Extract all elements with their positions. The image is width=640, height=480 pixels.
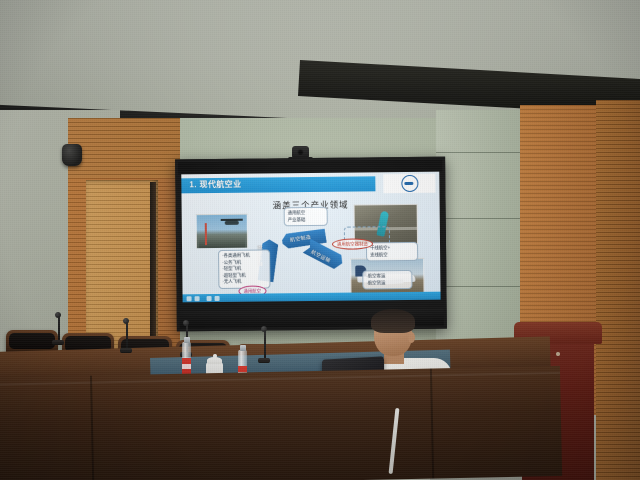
callout-trunk-regional: 干线航空+ 支线航空: [366, 242, 418, 262]
slide-logo: [383, 174, 435, 194]
door-gap: [150, 182, 156, 352]
callout-aircraft-types: ·各类通用飞机 ·公务飞机 ·轻型飞机 ·超轻型飞机 ·无人飞机: [218, 249, 270, 289]
slide-canvas: 1. 现代航空业 涵盖三个产业领域 航空制造 航空运营 航空运: [181, 172, 440, 303]
mic-stem-1: [58, 316, 60, 340]
callout-pax-cargo: ·航空客运 ·航空货运: [362, 270, 412, 290]
presentation-display[interactable]: 1. 现代航空业 涵盖三个产业领域 航空制造 航空运营 航空运: [175, 157, 447, 332]
conference-table-front: [0, 366, 562, 480]
presenter-ear: [408, 332, 415, 343]
mic-head-4: [261, 326, 267, 332]
wood-panel-left-upper: [68, 118, 180, 178]
wall-speaker-icon: [62, 144, 82, 166]
conference-room-photo: 1. 现代航空业 涵盖三个产业领域 航空制造 航空运营 航空运: [0, 0, 640, 480]
presenter-hair: [371, 309, 415, 333]
side-door[interactable]: [86, 180, 158, 352]
photo-helicopter-city: [196, 214, 248, 250]
mic-head-3: [183, 320, 189, 326]
lectern-knob: [556, 352, 560, 356]
mic-head-1: [55, 312, 61, 318]
callout-core-industry: 通用航空 产业基础: [284, 207, 328, 227]
mic-stem-2: [126, 322, 128, 348]
slide-title-text: 现代航空业: [199, 180, 241, 189]
mic-base-4: [258, 358, 270, 363]
mic-base-2: [120, 348, 132, 353]
logo-ring-icon: [401, 175, 418, 192]
slide-title-number: 1.: [189, 180, 197, 189]
wood-panel-far-right: [596, 100, 640, 480]
slide-taskbar[interactable]: [183, 292, 441, 303]
mic-head-2: [123, 318, 129, 324]
mic-stem-4: [264, 330, 266, 358]
mic-base-1: [52, 340, 64, 345]
slide-title: 1. 现代航空业: [189, 179, 241, 191]
